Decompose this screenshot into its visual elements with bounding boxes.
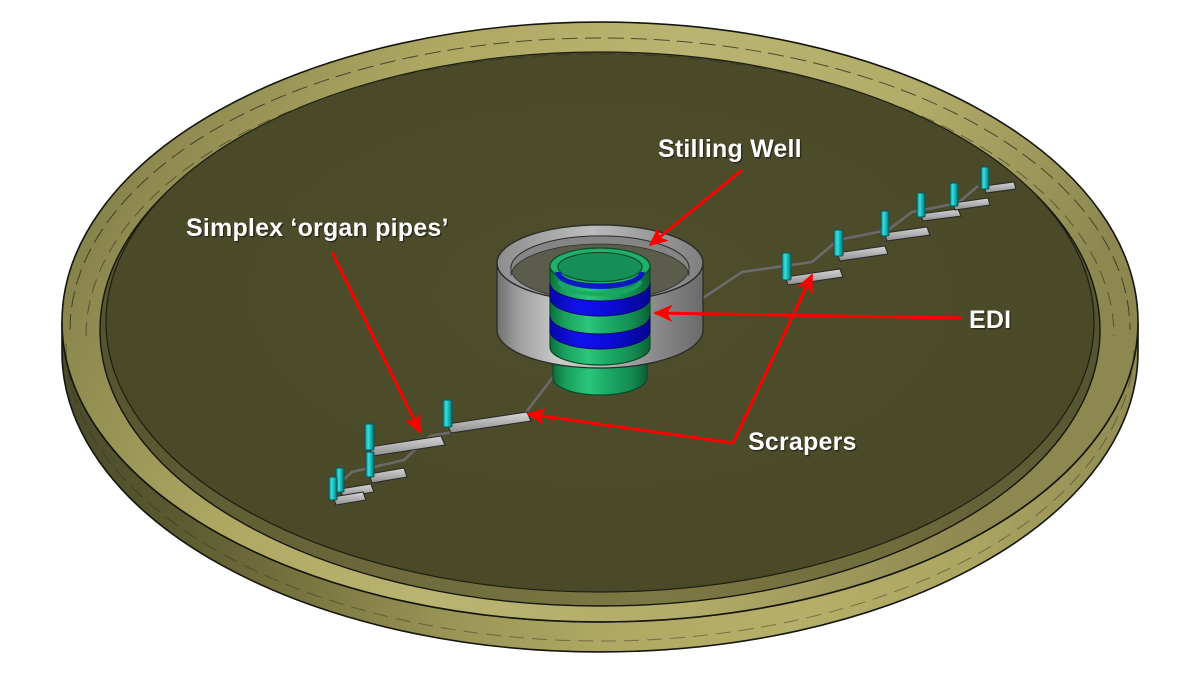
diagram-canvas: Simplex ‘organ pipes’ Stilling Well EDI … — [0, 0, 1200, 675]
edi-front-overlay — [550, 248, 650, 365]
organ-pipe[interactable] — [881, 211, 889, 236]
organ-pipe[interactable] — [981, 167, 989, 189]
organ-pipe[interactable] — [917, 193, 925, 217]
organ-pipe[interactable] — [834, 230, 843, 256]
organ-pipe[interactable] — [782, 253, 791, 280]
clarifier-tank-illustration — [0, 0, 1200, 675]
organ-pipe[interactable] — [329, 477, 337, 500]
organ-pipe[interactable] — [443, 400, 452, 427]
organ-pipe[interactable] — [950, 183, 958, 206]
organ-pipe[interactable] — [365, 424, 374, 450]
edi-bore-fill — [558, 253, 642, 282]
organ-pipe[interactable] — [366, 452, 374, 477]
